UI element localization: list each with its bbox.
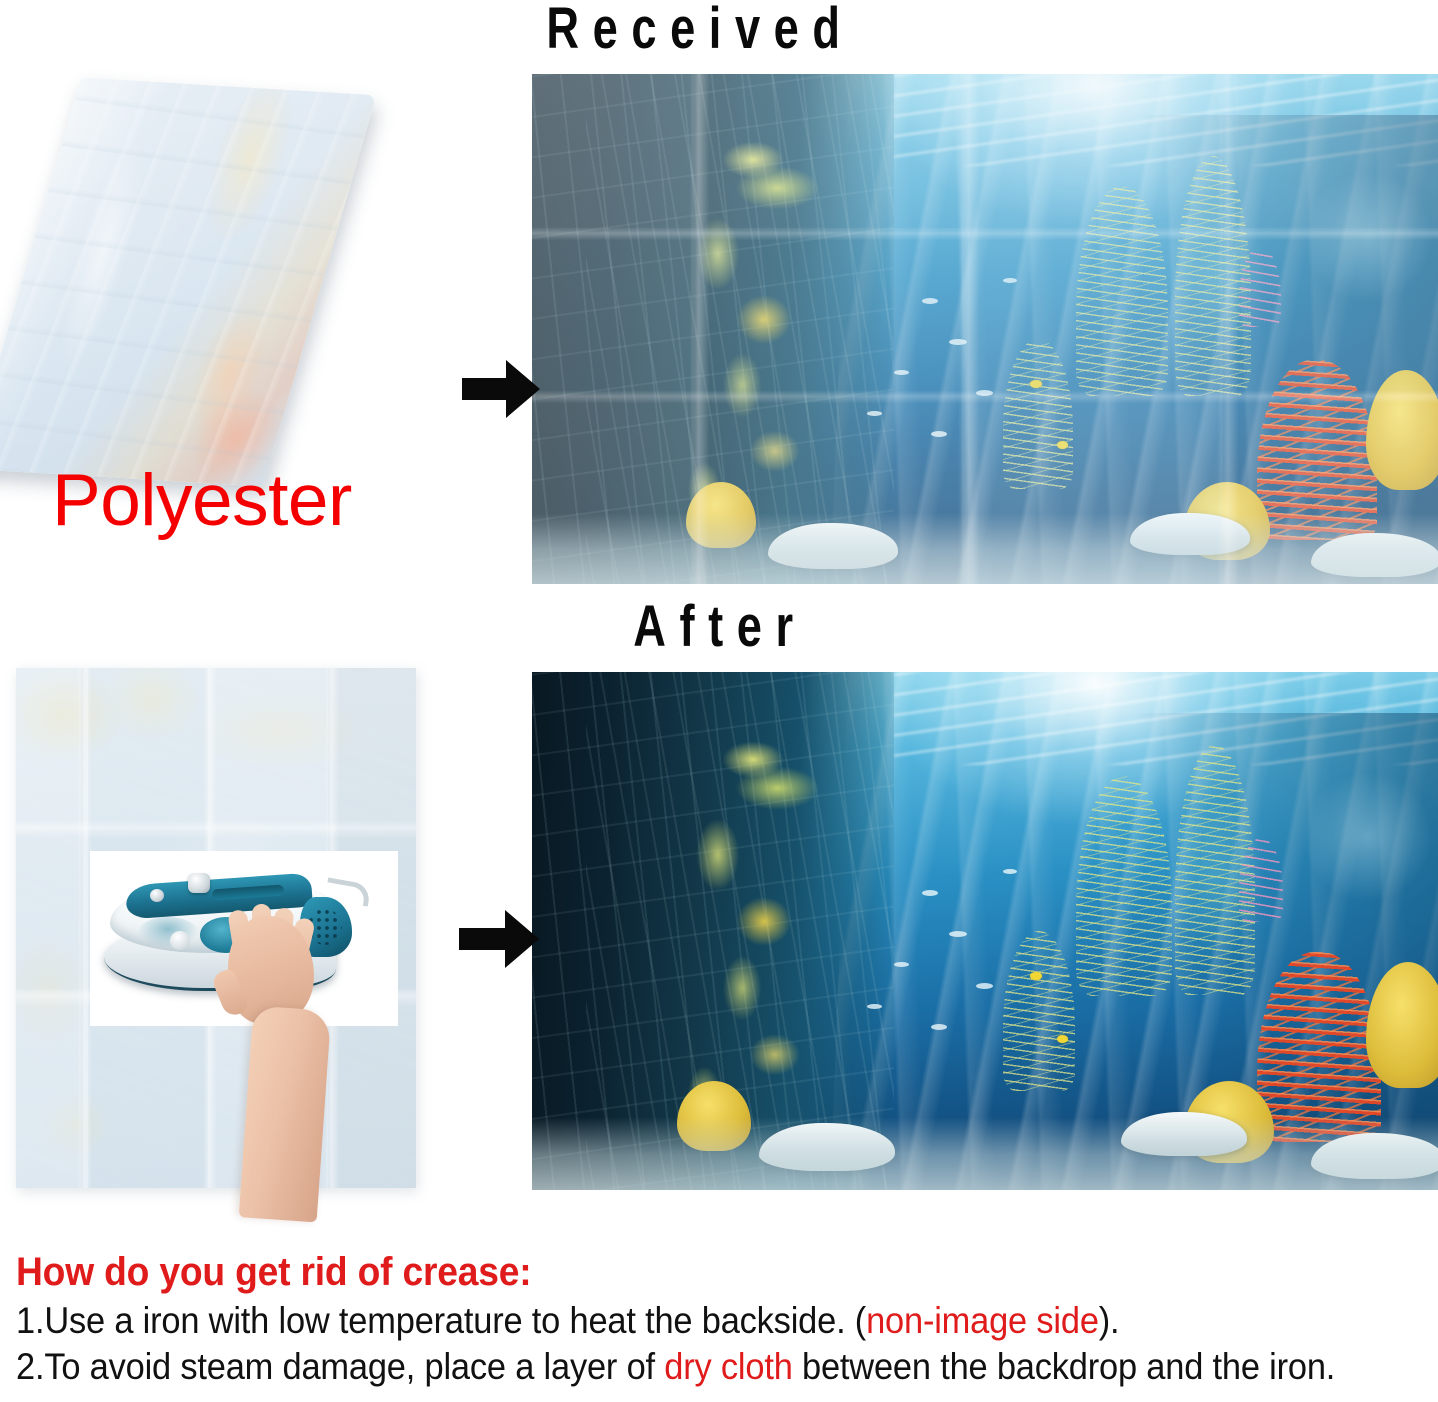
reef-backdrop-received: [532, 74, 1438, 584]
sandy-floor: [532, 1117, 1438, 1190]
instructions-heading: How do you get rid of crease:: [16, 1248, 1327, 1296]
instruction-2-highlight: dry cloth: [664, 1346, 792, 1387]
yellow-algae-coral: [623, 94, 895, 563]
iron-temperature-dial: [170, 931, 190, 950]
forearm: [239, 1006, 332, 1223]
fish: [949, 931, 967, 937]
iron-steam-button: [188, 873, 210, 893]
reef-backdrop-after: [532, 672, 1438, 1190]
instruction-1-prefix: 1.Use a iron with low temperature to hea…: [16, 1300, 866, 1341]
fish: [894, 370, 909, 375]
fish: [976, 983, 993, 989]
fish: [931, 431, 947, 437]
right-arrow-icon: [462, 358, 540, 425]
fish: [1003, 869, 1017, 874]
instruction-1-suffix: ).: [1099, 1300, 1120, 1341]
instruction-2-prefix: 2.To avoid steam damage, place a layer o…: [16, 1346, 664, 1387]
fish: [922, 890, 938, 896]
section-label-received: Received: [489, 0, 910, 60]
sandy-floor: [532, 513, 1438, 584]
instruction-1-highlight: non-image side: [866, 1300, 1099, 1341]
instruction-line-2: 2.To avoid steam damage, place a layer o…: [16, 1344, 1327, 1390]
section-label-after: After: [564, 596, 876, 658]
hand-and-arm: [206, 916, 336, 1216]
folded-sheet: [0, 77, 376, 486]
folded-polyester-backdrop-image: [8, 78, 428, 498]
fish: [867, 411, 882, 416]
right-arrow-icon: [459, 908, 539, 975]
iron-spray-button: [150, 889, 164, 902]
care-instructions: How do you get rid of crease: 1.Use a ir…: [16, 1248, 1426, 1390]
fish: [867, 1004, 882, 1009]
infographic-stage: Received Polyester: [0, 0, 1438, 1402]
instruction-line-1: 1.Use a iron with low temperature to hea…: [16, 1298, 1327, 1344]
yellow-algae-coral: [623, 693, 895, 1170]
yellow-fish: [1057, 1035, 1068, 1043]
polyester-material-label: Polyester: [52, 462, 352, 540]
instruction-2-suffix: between the backdrop and the iron.: [793, 1346, 1336, 1387]
